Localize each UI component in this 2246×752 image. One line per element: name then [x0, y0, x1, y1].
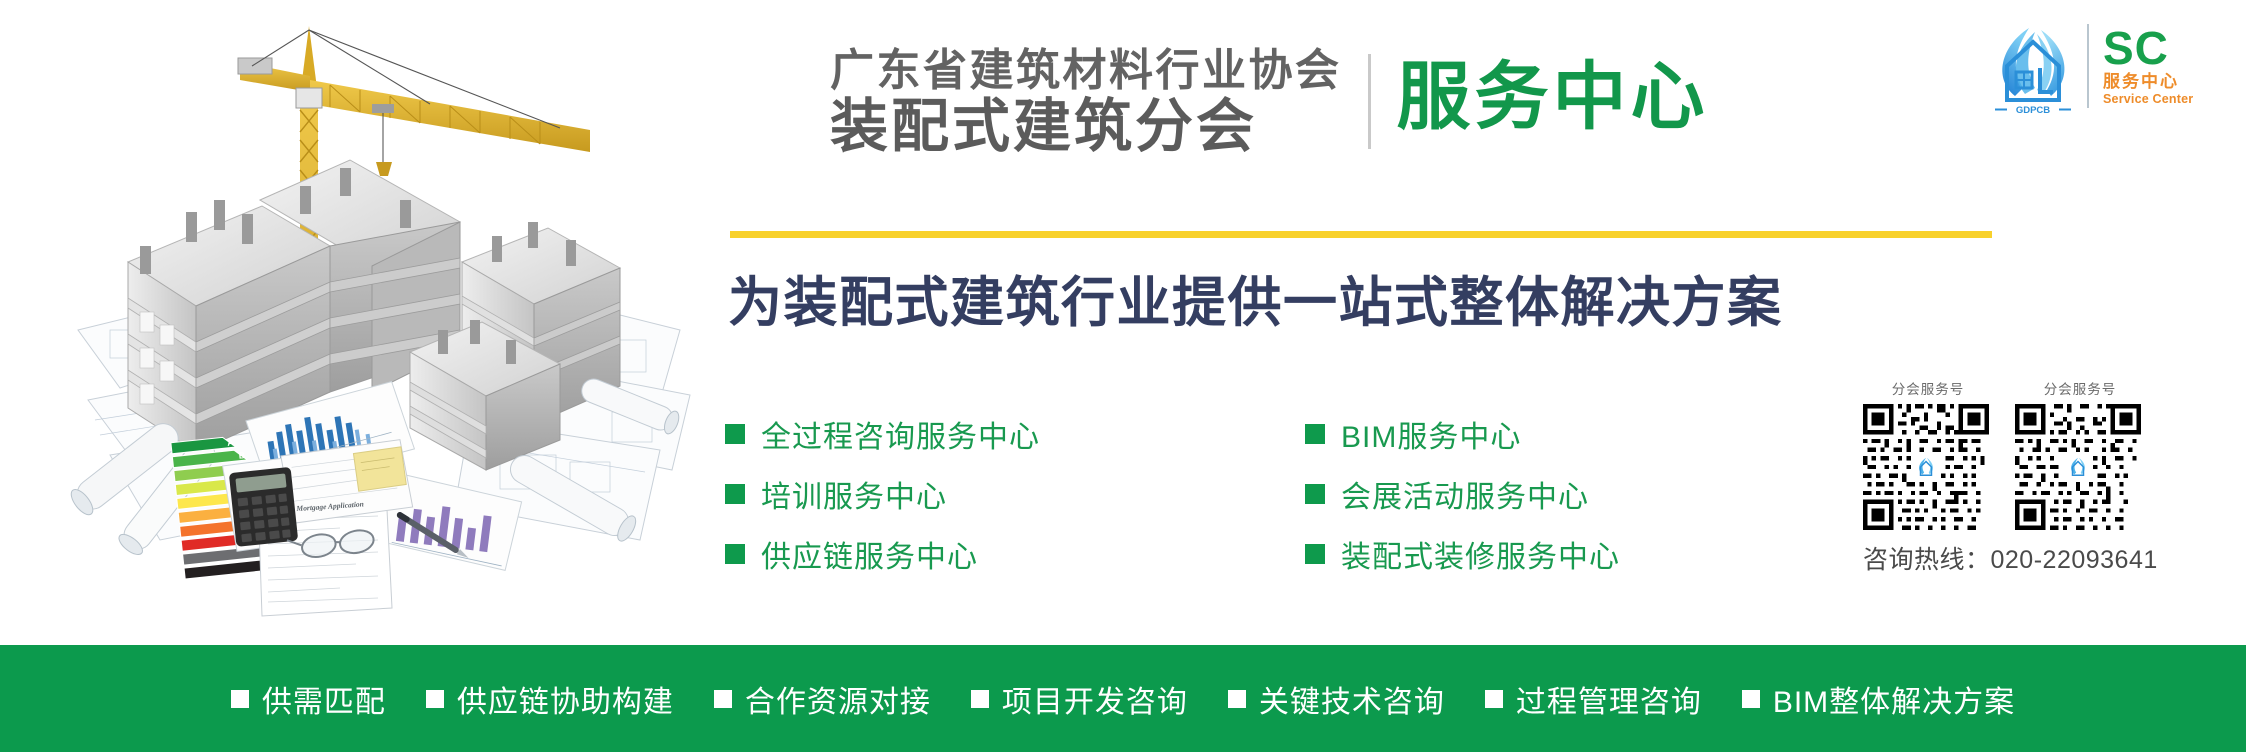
square-bullet-icon [1228, 690, 1246, 708]
bottom-bar-item[interactable]: 供应链协助构建 [426, 677, 674, 721]
association-logo: GDPCB SC 服务中心 Service Center [1985, 12, 2235, 120]
square-bullet-icon [725, 544, 745, 564]
square-bullet-icon [1305, 484, 1325, 504]
square-bullet-icon [231, 690, 249, 708]
qr-code-cell: 分会服务号 [2015, 378, 2145, 530]
square-bullet-icon [426, 690, 444, 708]
service-item[interactable]: 会展活动服务中心 [1305, 464, 1620, 524]
bottom-bar-label: 供应链协助构建 [457, 677, 674, 721]
service-item[interactable]: BIM服务中心 [1305, 404, 1620, 464]
service-label: BIM服务中心 [1341, 412, 1521, 456]
qr-code-image-2[interactable] [2015, 404, 2141, 530]
square-bullet-icon [1485, 690, 1503, 708]
qr-center-logo-icon [2063, 452, 2093, 482]
square-bullet-icon [1742, 690, 1760, 708]
service-label: 供应链服务中心 [761, 532, 978, 576]
service-item[interactable]: 装配式装修服务中心 [1305, 524, 1620, 584]
qr-center-logo-icon [1911, 452, 1941, 482]
logo-mark-label: GDPCB [2016, 105, 2050, 116]
service-item[interactable]: 培训服务中心 [725, 464, 1040, 524]
square-bullet-icon [725, 424, 745, 444]
logo-divider [2087, 24, 2089, 108]
qr-code-image-1[interactable] [1863, 404, 1989, 530]
service-label: 全过程咨询服务中心 [761, 412, 1040, 456]
promotional-banner: AB CD EF GH IJ [0, 0, 2246, 752]
service-label: 会展活动服务中心 [1341, 472, 1589, 516]
square-bullet-icon [1305, 424, 1325, 444]
bottom-service-bar: 供需匹配 供应链协助构建 合作资源对接 项目开发咨询 关键技术咨询 过程管理咨询 [0, 645, 2246, 752]
qr-code-block: 分会服务号 [1863, 378, 2213, 576]
service-center-heading: 服务中心 [1397, 48, 1709, 146]
square-bullet-icon [725, 484, 745, 504]
bottom-bar-label: 过程管理咨询 [1516, 677, 1702, 721]
square-bullet-icon [1305, 544, 1325, 564]
title-vertical-divider [1368, 54, 1371, 149]
bottom-bar-label: 项目开发咨询 [1002, 677, 1188, 721]
square-bullet-icon [714, 690, 732, 708]
qr-caption: 分会服务号 [2015, 378, 2145, 398]
service-list-left: 全过程咨询服务中心 培训服务中心 供应链服务中心 [725, 404, 1040, 584]
gdpcb-logo-icon: GDPCB [1985, 16, 2081, 116]
bottom-bar-item[interactable]: 过程管理咨询 [1485, 677, 1702, 721]
service-label: 培训服务中心 [761, 472, 947, 516]
logo-sc-english: Service Center [2103, 93, 2193, 107]
bottom-bar-label: 合作资源对接 [745, 677, 931, 721]
service-list-right: BIM服务中心 会展活动服务中心 装配式装修服务中心 [1305, 404, 1620, 584]
hotline-text: 咨询热线：020-22093641 [1863, 540, 2213, 576]
qr-code-cell: 分会服务号 [1863, 378, 1993, 530]
bottom-bar-label: 关键技术咨询 [1259, 677, 1445, 721]
service-item[interactable]: 全过程咨询服务中心 [725, 404, 1040, 464]
logo-sc-chinese: 服务中心 [2103, 73, 2179, 92]
service-center-logo-text: SC 服务中心 Service Center [2103, 26, 2193, 107]
bottom-bar-item[interactable]: 项目开发咨询 [971, 677, 1188, 721]
gold-divider-rule [730, 231, 1992, 238]
main-tagline: 为装配式建筑行业提供一站式整体解决方案 [728, 258, 1783, 337]
service-item[interactable]: 供应链服务中心 [725, 524, 1040, 584]
org-name-line1: 广东省建筑材料行业协会 [830, 48, 1342, 94]
organisation-name: 广东省建筑材料行业协会 装配式建筑分会 [830, 48, 1342, 159]
bottom-bar-label: BIM整体解决方案 [1773, 677, 2015, 721]
qr-caption: 分会服务号 [1863, 378, 1993, 398]
bottom-bar-item[interactable]: 关键技术咨询 [1228, 677, 1445, 721]
org-name-line2: 装配式建筑分会 [830, 96, 1342, 159]
bottom-bar-item[interactable]: BIM整体解决方案 [1742, 677, 2015, 721]
bottom-bar-item[interactable]: 供需匹配 [231, 677, 386, 721]
logo-sc-initials: SC [2103, 26, 2169, 71]
header-title-block: 广东省建筑材料行业协会 装配式建筑分会 服务中心 [830, 48, 1709, 159]
construction-hero-image: AB CD EF GH IJ [0, 0, 700, 645]
bottom-bar-label: 供需匹配 [262, 677, 386, 721]
bottom-bar-item[interactable]: 合作资源对接 [714, 677, 931, 721]
service-label: 装配式装修服务中心 [1341, 532, 1620, 576]
square-bullet-icon [971, 690, 989, 708]
